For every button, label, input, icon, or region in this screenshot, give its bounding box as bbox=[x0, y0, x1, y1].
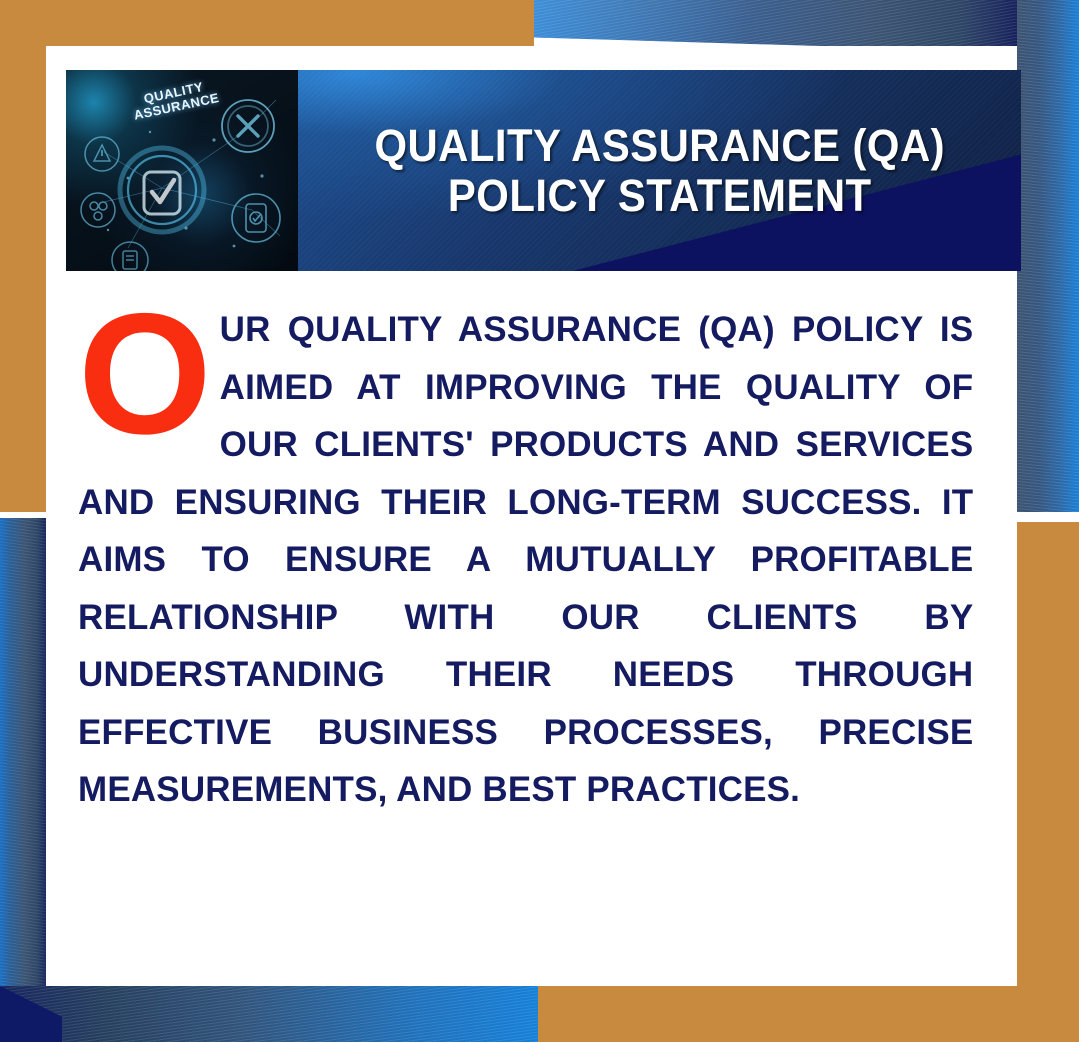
bottom-left-blue-band bbox=[0, 986, 538, 1042]
quality-assurance-artwork: QUALITY ASSURANCE bbox=[66, 70, 298, 271]
content-card: QUALITY ASSURANCE QUALITY ASSURANCE (QA)… bbox=[46, 46, 1017, 984]
policy-statement-body: O UR QUALITY ASSURANCE (QA) POLICY IS AI… bbox=[78, 301, 987, 819]
policy-statement-text: UR QUALITY ASSURANCE (QA) POLICY IS AIME… bbox=[78, 301, 973, 819]
banner-title-line2: POLICY STATEMENT bbox=[448, 170, 872, 221]
right-blue-band bbox=[1017, 0, 1079, 512]
top-right-blue-band bbox=[534, 0, 1019, 52]
bottom-right-tan-band bbox=[538, 986, 1079, 1042]
banner-title-area: QUALITY ASSURANCE (QA) POLICY STATEMENT bbox=[298, 70, 1021, 271]
left-blue-band bbox=[0, 518, 46, 1042]
right-tan-band bbox=[1017, 522, 1079, 1042]
header-banner: QUALITY ASSURANCE QUALITY ASSURANCE (QA)… bbox=[66, 70, 1021, 271]
slide-canvas: QUALITY ASSURANCE QUALITY ASSURANCE (QA)… bbox=[0, 0, 1079, 1042]
banner-title: QUALITY ASSURANCE (QA) POLICY STATEMENT bbox=[365, 121, 954, 220]
left-tan-band bbox=[0, 0, 46, 512]
top-left-tan-band bbox=[0, 0, 534, 52]
banner-title-line1: QUALITY ASSURANCE (QA) bbox=[374, 120, 945, 171]
